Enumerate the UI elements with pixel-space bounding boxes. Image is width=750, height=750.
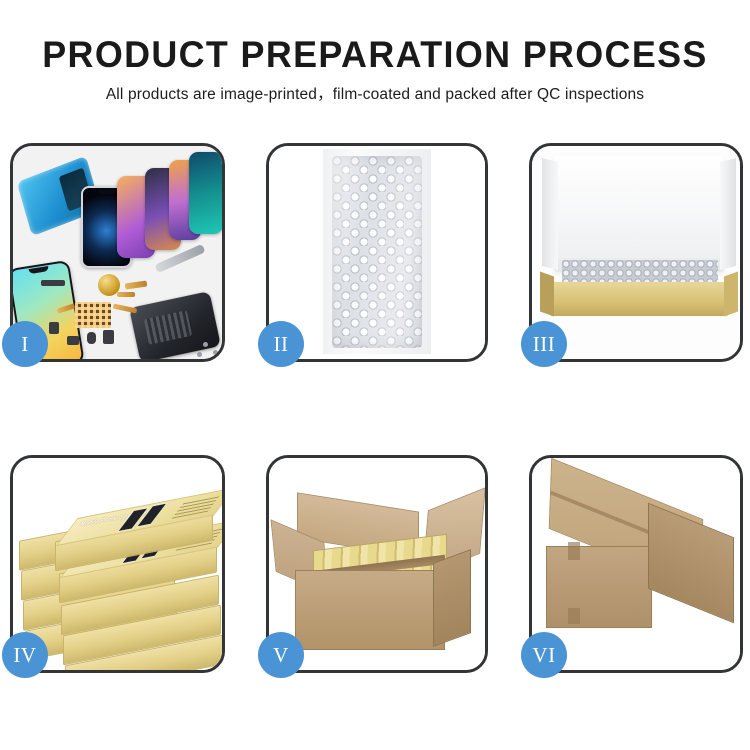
step-panel-iv: Mobile Phone Spare Parts Mobile Phone Sp… (10, 455, 225, 673)
part-bracket-2 (49, 322, 59, 334)
box-top-face-upper: Mobile Phone Spare Parts (56, 487, 222, 546)
step-image-i (13, 146, 222, 359)
step-panel-i: I (10, 143, 225, 362)
header: PRODUCT PREPARATION PROCESS All products… (0, 0, 750, 105)
bubble-wrap-icon (332, 156, 422, 348)
carton-tape-upper (568, 542, 580, 560)
sealed-carton-front-face (546, 546, 652, 628)
box-spec-lines-upper (172, 495, 221, 518)
step-badge-i: I (2, 321, 48, 367)
foam-sheet-icon (558, 192, 720, 258)
part-bracket-4 (87, 332, 96, 344)
step-panel-iii: III (529, 143, 743, 362)
screw-1 (203, 342, 208, 347)
step-panel-ii: II (266, 143, 488, 362)
step-image-iv: Mobile Phone Spare Parts Mobile Phone Sp… (13, 458, 222, 670)
step-panel-v: V (266, 455, 488, 673)
step-panel-vi: VI (529, 455, 743, 673)
screw-3 (197, 352, 202, 357)
box-stack: Mobile Phone Spare Parts Mobile Phone Sp… (15, 474, 222, 664)
step-image-vi (532, 458, 740, 670)
step-badge-iii: III (521, 321, 567, 367)
product-preparation-infographic: PRODUCT PREPARATION PROCESS All products… (0, 0, 750, 750)
page-subtitle: All products are image-printed，film-coat… (0, 76, 750, 105)
step-badge-iv: IV (2, 632, 48, 678)
carton-front-face (295, 570, 445, 650)
process-steps-grid: I II III (10, 143, 742, 673)
page-title: PRODUCT PREPARATION PROCESS (11, 0, 739, 76)
sealed-carton-right-face (648, 503, 734, 624)
step-image-ii (269, 146, 485, 359)
part-bracket-1 (41, 280, 65, 286)
step-image-v (269, 458, 485, 670)
chip-grid-part-icon (75, 302, 111, 328)
flex-cable-3 (125, 280, 148, 289)
step-image-iii (532, 146, 740, 359)
flex-cable-4 (117, 292, 135, 297)
step-badge-v: V (258, 632, 304, 678)
part-bracket-3 (67, 336, 79, 345)
step-badge-vi: VI (521, 632, 567, 678)
step-badge-ii: II (258, 321, 304, 367)
carton-tape-lower (568, 608, 580, 624)
flex-cable-2 (113, 304, 138, 314)
part-bracket-5 (103, 330, 114, 344)
phone-back-housing-icon (129, 291, 221, 359)
phone-e-icon (189, 152, 222, 234)
kraft-box-tray-icon (550, 282, 728, 316)
carton-side-face (433, 549, 471, 647)
screw-2 (213, 350, 218, 355)
